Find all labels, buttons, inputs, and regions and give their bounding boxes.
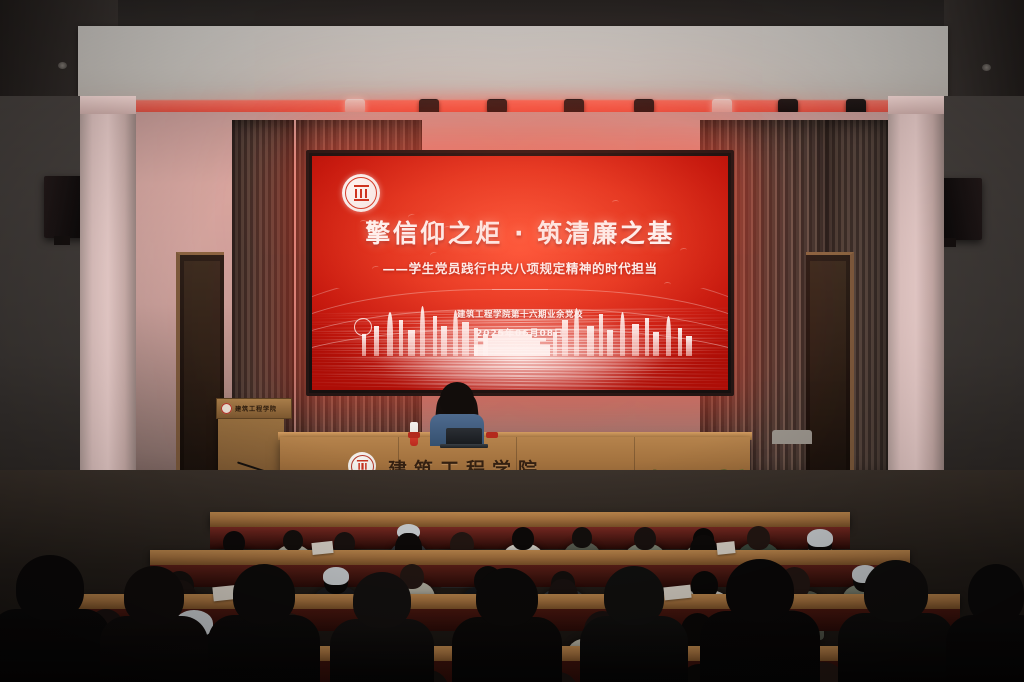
stage-left-doorway[interactable] — [176, 252, 224, 505]
audience-head — [572, 527, 592, 548]
foreground-head — [726, 559, 793, 622]
foreground-audience-member — [452, 566, 562, 682]
led-screen[interactable]: 擎信仰之炬 · 筑清廉之基 ——学生党员践行中央八项规定精神的时代担当 建筑工程… — [306, 150, 734, 396]
desk-item-red — [486, 432, 498, 438]
foreground-head — [233, 564, 296, 624]
foreground-head — [968, 564, 1024, 624]
foreground-audience-member — [208, 562, 320, 682]
audience-head — [512, 527, 534, 550]
foreground-audience-member — [0, 552, 110, 682]
audience-area — [0, 470, 1024, 682]
foreground-head — [476, 568, 538, 626]
handout-paper — [717, 541, 736, 555]
pilaster-cap-right — [888, 96, 944, 114]
foreground-audience-member — [100, 564, 208, 682]
foreground-torso — [100, 616, 208, 682]
led-screen-surface: 擎信仰之炬 · 筑清廉之基 ——学生党员践行中央八项规定精神的时代担当 建筑工程… — [312, 156, 728, 390]
audience-head — [634, 527, 656, 550]
laptop-base — [440, 444, 488, 448]
foreground-torso — [452, 617, 562, 682]
left-wall-speaker-bracket — [54, 236, 70, 245]
light-soffit — [78, 26, 948, 102]
doorway-interior — [184, 261, 220, 505]
doorway-interior — [810, 261, 846, 505]
slide-subtitle: ——学生党员践行中央八项规定精神的时代担当 — [312, 258, 728, 277]
presenter — [428, 382, 486, 444]
bird-silhouette — [612, 200, 619, 205]
foreground-audience-member — [838, 558, 954, 682]
handout-paper — [312, 541, 334, 555]
foreground-head — [604, 566, 664, 625]
foreground-head — [124, 566, 184, 625]
lectern-plaque: 建筑工程学院 — [216, 398, 292, 419]
lectern-plaque-text: 建筑工程学院 — [235, 404, 277, 413]
foreground-torso — [580, 616, 688, 682]
emblem-ring — [345, 177, 377, 209]
foreground-audience-member — [580, 564, 688, 682]
college-emblem-icon — [221, 403, 232, 414]
college-emblem-icon — [342, 174, 380, 212]
side-wall-left — [0, 96, 82, 526]
pilaster-right — [888, 96, 944, 516]
center-glow — [370, 310, 670, 390]
side-wall-right — [944, 96, 1024, 526]
foreground-torso — [330, 619, 434, 682]
bench-desk — [210, 512, 850, 527]
sprinkler-head — [982, 64, 991, 71]
foreground-torso — [946, 615, 1024, 682]
presenter-hair — [440, 382, 474, 416]
foreground-audience-member — [330, 570, 434, 682]
foreground-head — [353, 572, 411, 628]
foreground-torso — [700, 611, 820, 682]
emblem-building-glyph — [354, 185, 369, 201]
foreground-head — [864, 560, 929, 622]
bird-silhouette — [664, 282, 671, 287]
foreground-torso — [208, 615, 320, 682]
pilaster-cap-left — [80, 96, 136, 114]
foreground-torso — [838, 613, 954, 682]
desk-item-red — [408, 432, 420, 438]
stage-right-doorway[interactable] — [806, 252, 854, 505]
baseball-cap — [807, 529, 833, 547]
slide-title: 擎信仰之炬 · 筑清廉之基 — [312, 214, 728, 250]
stage-chair — [772, 430, 812, 444]
foreground-head — [16, 555, 83, 620]
pilaster-left — [80, 96, 136, 516]
audience-head — [747, 526, 770, 550]
sprinkler-head — [58, 62, 67, 69]
foreground-torso — [0, 609, 110, 682]
foreground-audience-member — [700, 556, 820, 682]
lecture-hall-photo: 擎信仰之炬 · 筑清廉之基 ——学生党员践行中央八项规定精神的时代担当 建筑工程… — [0, 0, 1024, 682]
foreground-audience-member — [946, 562, 1024, 682]
audience-head — [283, 530, 303, 551]
